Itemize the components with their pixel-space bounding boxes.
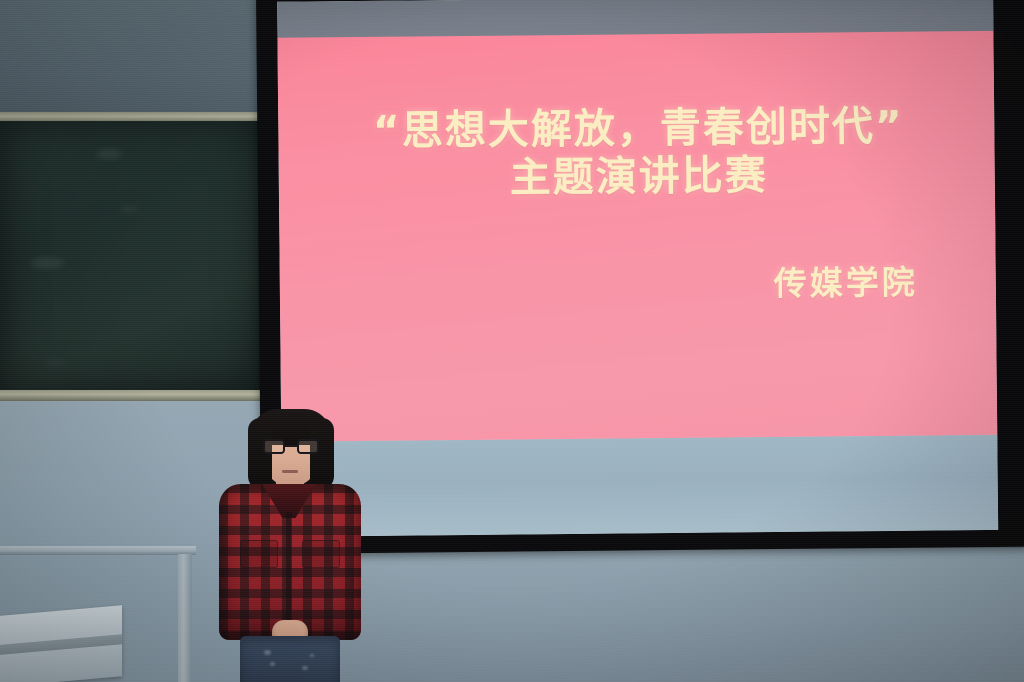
- screen-surface: “思想大解放，青春创时代” 主题演讲比赛 传媒学院: [277, 0, 998, 537]
- photo-scene: “思想大解放，青春创时代” 主题演讲比赛 传媒学院: [0, 0, 1024, 682]
- hair-right-side: [310, 418, 334, 490]
- wall-below-screen: [258, 548, 1024, 682]
- eyeglass-lens-right: [297, 439, 319, 454]
- shirt-pocket-left: [240, 540, 278, 568]
- slide-title-line-1: “思想大解放，青春创时代”: [278, 103, 994, 156]
- hair-left-side: [248, 418, 272, 490]
- upper-wall-left: [0, 0, 300, 124]
- chalkboard-surface: [0, 121, 262, 393]
- slide-organization-label: 传媒学院: [280, 255, 996, 310]
- wall-post: [178, 554, 192, 682]
- mouth: [282, 470, 298, 473]
- slide-title-line-2: 主题演讲比赛: [279, 149, 995, 204]
- presenter: [206, 408, 372, 682]
- chalkboard-bottom-ledge: [0, 390, 262, 401]
- eyeglass-lens-left: [263, 439, 285, 454]
- eyeglasses-icon: [263, 439, 319, 454]
- shirt-pocket-right: [302, 540, 340, 568]
- eyeglass-bridge: [285, 445, 297, 447]
- jeans: [240, 636, 340, 682]
- chalkboard: [0, 112, 262, 400]
- slide-text-block: “思想大解放，青春创时代” 主题演讲比赛 传媒学院: [277, 0, 998, 537]
- wall-rail: [0, 546, 196, 555]
